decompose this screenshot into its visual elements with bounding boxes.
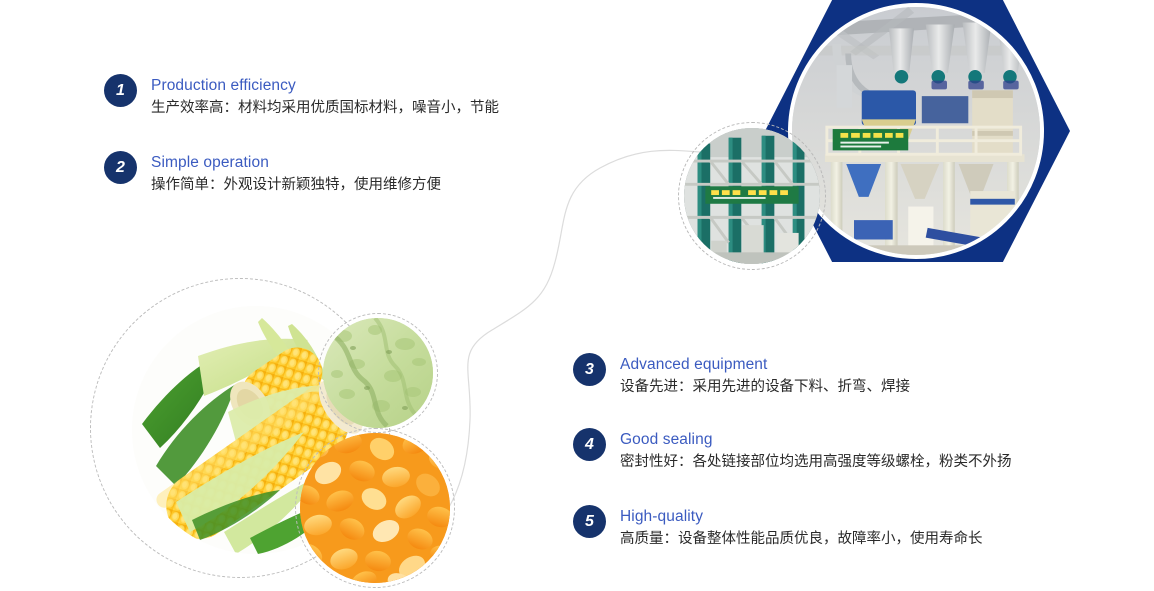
feature-title-5: High-quality	[620, 506, 983, 527]
feature-item-1: 1 Production efficiency 生产效率高：材料均采用优质国标材…	[104, 74, 499, 119]
feature-item-5: 5 High-quality 高质量：设备整体性能品质优良，故障率小，使用寿命长	[573, 505, 983, 550]
feature-badge-5: 5	[573, 505, 606, 538]
feature-desc-2: 操作简单：外观设计新颖独特，使用维修方便	[151, 174, 441, 196]
feature-badge-2: 2	[104, 151, 137, 184]
feature-item-4: 4 Good sealing 密封性好：各处链接部位均选用高强度等级螺栓，粉类不…	[573, 428, 1012, 473]
product-media-group	[90, 278, 500, 591]
feature-badge-3: 3	[573, 353, 606, 386]
feature-text-1: Production efficiency 生产效率高：材料均采用优质国标材料，…	[151, 74, 499, 119]
feature-item-2: 2 Simple operation 操作简单：外观设计新颖独特，使用维修方便	[104, 151, 441, 196]
feature-title-1: Production efficiency	[151, 75, 499, 96]
feature-text-2: Simple operation 操作简单：外观设计新颖独特，使用维修方便	[151, 151, 441, 196]
flour-mill-plant-photo	[788, 3, 1044, 259]
feature-title-3: Advanced equipment	[620, 354, 910, 375]
feature-desc-1: 生产效率高：材料均采用优质国标材料，噪音小，节能	[151, 97, 499, 119]
feature-text-4: Good sealing 密封性好：各处链接部位均选用高强度等级螺栓，粉类不外扬	[620, 428, 1012, 473]
green-photo-ring	[318, 313, 438, 433]
feature-desc-3: 设备先进：采用先进的设备下料、折弯、焊接	[620, 376, 910, 398]
infographic-page: 1 Production efficiency 生产效率高：材料均采用优质国标材…	[0, 0, 1154, 591]
feature-text-5: High-quality 高质量：设备整体性能品质优良，故障率小，使用寿命长	[620, 505, 983, 550]
feature-title-4: Good sealing	[620, 429, 1012, 450]
feature-badge-4: 4	[573, 428, 606, 461]
feature-item-3: 3 Advanced equipment 设备先进：采用先进的设备下料、折弯、焊…	[573, 353, 910, 398]
corn-processing-line-photo	[678, 122, 826, 270]
kernel-photo-ring	[295, 428, 455, 588]
feature-text-3: Advanced equipment 设备先进：采用先进的设备下料、折弯、焊接	[620, 353, 910, 398]
hero-media-group	[660, 0, 1154, 280]
feature-badge-1: 1	[104, 74, 137, 107]
feature-desc-5: 高质量：设备整体性能品质优良，故障率小，使用寿命长	[620, 528, 983, 550]
feature-title-2: Simple operation	[151, 152, 441, 173]
feature-desc-4: 密封性好：各处链接部位均选用高强度等级螺栓，粉类不外扬	[620, 451, 1012, 473]
